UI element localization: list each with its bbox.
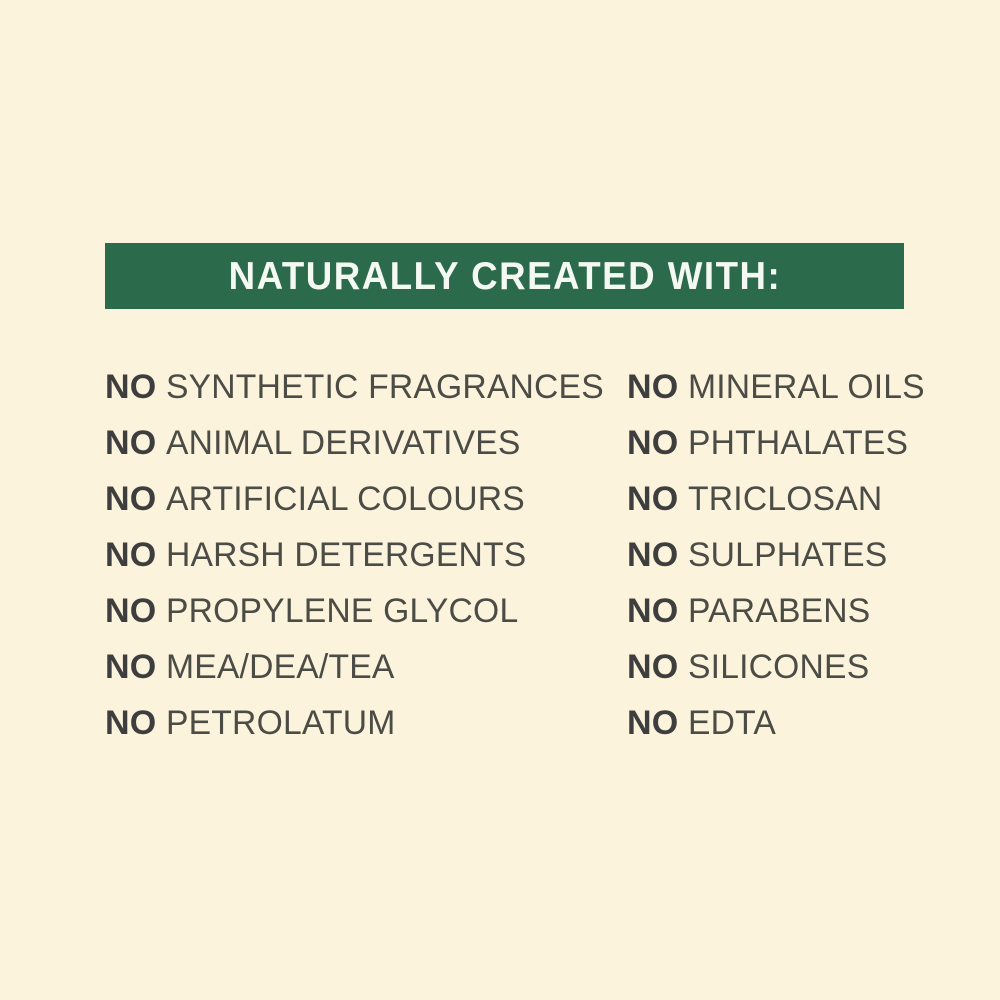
list-item-label: PETROLATUM	[166, 704, 396, 742]
no-prefix: NO	[627, 592, 678, 630]
no-prefix: NO	[105, 368, 156, 406]
list-item-label: PARABENS	[688, 592, 870, 630]
no-prefix: NO	[105, 592, 156, 630]
list-item: NO ARTIFICIAL COLOURS	[105, 480, 605, 536]
list-item: NO MINERAL OILS	[627, 368, 957, 424]
list-item-label: SYNTHETIC FRAGRANCES	[166, 368, 604, 406]
no-prefix: NO	[627, 480, 678, 518]
list-item-label: SULPHATES	[688, 536, 887, 574]
list-item-label: ANIMAL DERIVATIVES	[166, 424, 521, 462]
no-prefix: NO	[105, 424, 156, 462]
poster-canvas: NATURALLY CREATED WITH: NO SYNTHETIC FRA…	[0, 0, 1000, 1000]
list-item: NO PARABENS	[627, 592, 957, 648]
list-item: NO PROPYLENE GLYCOL	[105, 592, 605, 648]
list-item-label: MINERAL OILS	[688, 368, 925, 406]
list-item: NO PETROLATUM	[105, 704, 605, 760]
list-item: NO MEA/DEA/TEA	[105, 648, 605, 704]
list-item: NO SULPHATES	[627, 536, 957, 592]
list-item: NO SILICONES	[627, 648, 957, 704]
no-prefix: NO	[105, 704, 156, 742]
no-prefix: NO	[627, 648, 678, 686]
no-prefix: NO	[105, 536, 156, 574]
list-item: NO HARSH DETERGENTS	[105, 536, 605, 592]
list-item: NO PHTHALATES	[627, 424, 957, 480]
list-item-label: EDTA	[688, 704, 776, 742]
banner-title: NATURALLY CREATED WITH:	[228, 257, 781, 296]
list-column-right: NO MINERAL OILS NO PHTHALATES NO TRICLOS…	[627, 368, 957, 760]
no-prefix: NO	[627, 368, 678, 406]
list-item: NO EDTA	[627, 704, 957, 760]
list-item-label: HARSH DETERGENTS	[166, 536, 526, 574]
list-item-label: SILICONES	[688, 648, 869, 686]
list-item: NO TRICLOSAN	[627, 480, 957, 536]
no-prefix: NO	[627, 536, 678, 574]
list-item-label: PROPYLENE GLYCOL	[166, 592, 518, 630]
no-prefix: NO	[105, 648, 156, 686]
no-prefix: NO	[627, 704, 678, 742]
banner: NATURALLY CREATED WITH:	[105, 243, 904, 309]
list-item-label: MEA/DEA/TEA	[166, 648, 395, 686]
list-item-label: ARTIFICIAL COLOURS	[166, 480, 525, 518]
list-item-label: PHTHALATES	[688, 424, 908, 462]
no-prefix: NO	[627, 424, 678, 462]
list-item: NO ANIMAL DERIVATIVES	[105, 424, 605, 480]
list-column-left: NO SYNTHETIC FRAGRANCES NO ANIMAL DERIVA…	[105, 368, 605, 760]
no-prefix: NO	[105, 480, 156, 518]
list-item: NO SYNTHETIC FRAGRANCES	[105, 368, 605, 424]
list-item-label: TRICLOSAN	[688, 480, 882, 518]
